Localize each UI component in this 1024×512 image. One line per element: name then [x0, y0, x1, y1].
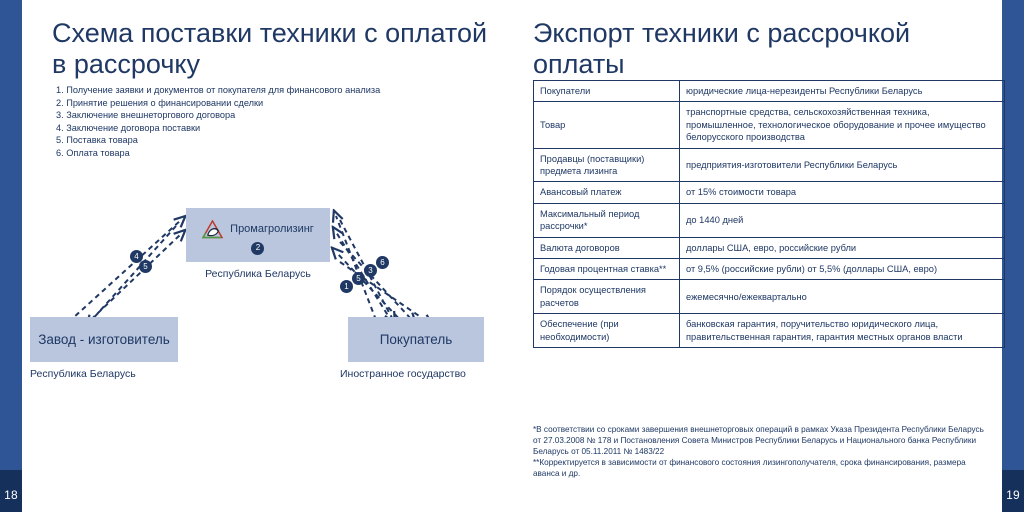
step-badge-left-5: 5: [139, 260, 152, 273]
process-step: 4. Заключение договора поставки: [56, 122, 476, 135]
process-step: 2. Принятие решения о финансировании сде…: [56, 97, 476, 110]
table-cell-value: от 15% стоимости товара: [680, 182, 1005, 203]
slide-right-accent-bar: [1002, 0, 1024, 512]
node-manufacturer[interactable]: Завод - изготовитель: [30, 317, 178, 362]
table-row: Годовая процентная ставка** от 9,5% (рос…: [534, 259, 1005, 280]
slide-left-page-number: 18: [0, 488, 22, 502]
slide-deck: 18 Схема поставки техники с оплатой в ра…: [0, 0, 1024, 512]
table-row: Порядок осуществления расчетов ежемесячн…: [534, 280, 1005, 314]
table-row: Обеспечение (при необходимости) банковск…: [534, 314, 1005, 348]
table-cell-value: юридические лица-нерезиденты Республики …: [680, 81, 1005, 102]
footnote-asterisk: *В соответствии со сроками завершения вн…: [533, 424, 985, 457]
table-row: Покупатели юридические лица-нерезиденты …: [534, 81, 1005, 102]
table-cell-value: до 1440 дней: [680, 203, 1005, 237]
table-cell-value: банковская гарантия, поручительство юрид…: [680, 314, 1005, 348]
table-cell-key: Порядок осуществления расчетов: [534, 280, 680, 314]
table-cell-value: ежемесячно/ежеквартально: [680, 280, 1005, 314]
table-cell-key: Авансовый платеж: [534, 182, 680, 203]
table-row: Максимальный период рассрочки* до 1440 д…: [534, 203, 1005, 237]
slide-right-page-number: 19: [1002, 488, 1024, 502]
step-badge-right-1: 1: [340, 280, 353, 293]
export-terms-table: Покупатели юридические лица-нерезиденты …: [533, 80, 1005, 348]
table-row: Продавцы (поставщики) предмета лизинга п…: [534, 148, 1005, 182]
node-buyer-caption: Иностранное государство: [340, 368, 466, 380]
table-cell-value: транспортные средства, сельскохозяйствен…: [680, 102, 1005, 148]
footnote-double-asterisk: **Корректируется в зависимости от финанс…: [533, 457, 985, 479]
table-cell-key: Максимальный период рассрочки*: [534, 203, 680, 237]
node-buyer-label: Покупатель: [380, 332, 453, 347]
node-manufacturer-label: Завод - изготовитель: [38, 332, 170, 347]
process-step: 6. Оплата товара: [56, 147, 476, 160]
table-cell-key: Годовая процентная ставка**: [534, 259, 680, 280]
node-manufacturer-caption: Республика Беларусь: [30, 368, 136, 380]
process-step: 1. Получение заявки и документов от поку…: [56, 84, 476, 97]
step-badge-right-3: 3: [364, 264, 377, 277]
table-cell-key: Покупатели: [534, 81, 680, 102]
table-cell-key: Товар: [534, 102, 680, 148]
table-row: Валюта договоров доллары США, евро, росс…: [534, 237, 1005, 258]
table-cell-key: Продавцы (поставщики) предмета лизинга: [534, 148, 680, 182]
node-leasing-company[interactable]: Промагролизинг 2: [186, 208, 330, 262]
node-buyer[interactable]: Покупатель: [348, 317, 484, 362]
process-step: 5. Поставка товара: [56, 134, 476, 147]
table-cell-key: Обеспечение (при необходимости): [534, 314, 680, 348]
table-row: Авансовый платеж от 15% стоимости товара: [534, 182, 1005, 203]
process-steps-list: 1. Получение заявки и документов от поку…: [56, 84, 476, 160]
leasing-company-name: Промагролизинг: [230, 223, 314, 235]
slide-left-title: Схема поставки техники с оплатой в расср…: [52, 18, 492, 80]
footnotes: *В соответствии со сроками завершения вн…: [533, 424, 985, 479]
table-row: Товар транспортные средства, сельскохозя…: [534, 102, 1005, 148]
slide-right: 19 Экспорт техники с рассрочкой оплаты П…: [512, 0, 1024, 512]
slide-left: 18 Схема поставки техники с оплатой в ра…: [0, 0, 512, 512]
slide-right-title: Экспорт техники с рассрочкой оплаты: [533, 18, 963, 80]
supply-flow-diagram: Промагролизинг 2 Республика Беларусь Зав…: [0, 190, 512, 400]
table-cell-value: доллары США, евро, российские рубли: [680, 237, 1005, 258]
promagroleasing-logo-icon: [202, 220, 223, 239]
table-cell-value: предприятия-изготовители Республики Бела…: [680, 148, 1005, 182]
step-badge-center: 2: [251, 242, 264, 255]
table-cell-key: Валюта договоров: [534, 237, 680, 258]
step-badge-right-5: 5: [352, 272, 365, 285]
node-leasing-company-caption: Республика Беларусь: [186, 268, 330, 280]
process-step: 3. Заключение внешнеторгового договора: [56, 109, 476, 122]
step-badge-right-6: 6: [376, 256, 389, 269]
table-cell-value: от 9,5% (российские рубли) от 5,5% (долл…: [680, 259, 1005, 280]
